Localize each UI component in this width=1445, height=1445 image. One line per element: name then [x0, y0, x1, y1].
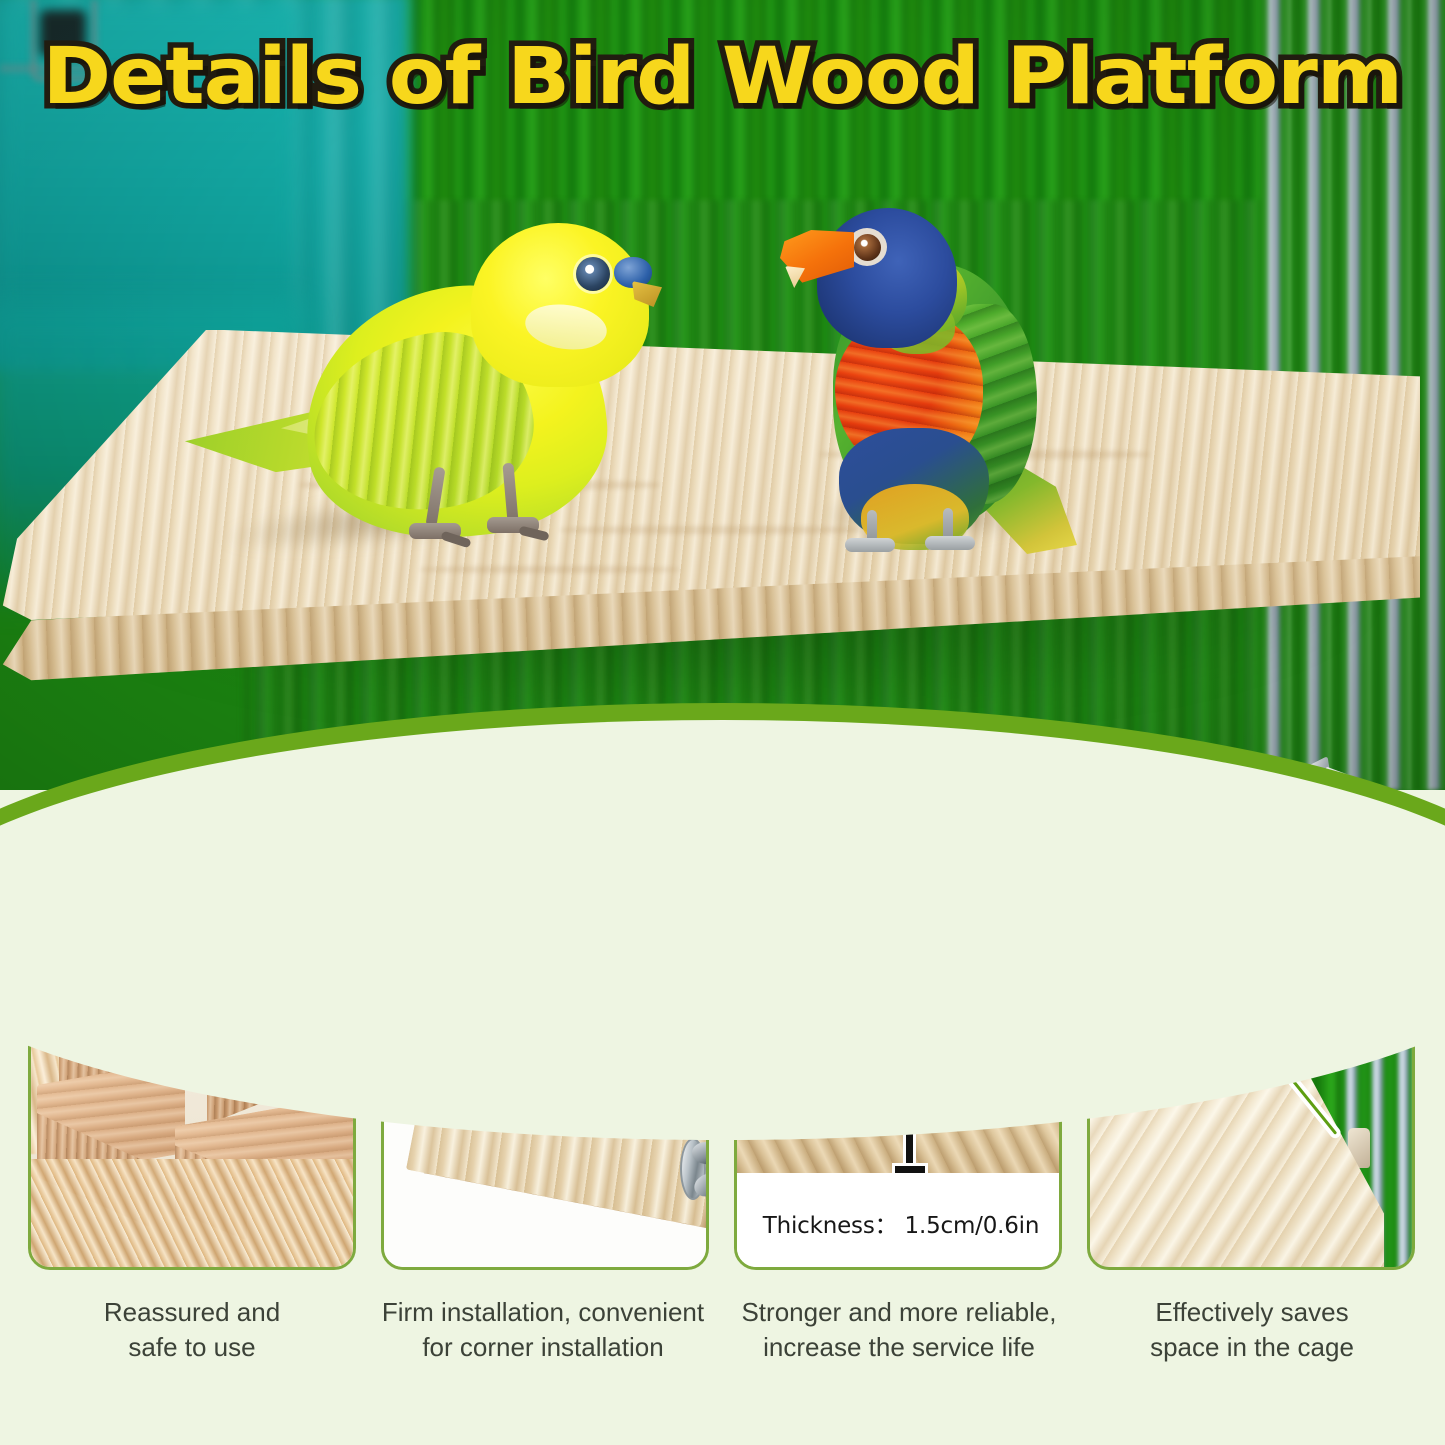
- rainbow-lorikeet-bird: [775, 192, 1065, 557]
- lorikeet-eye: [854, 234, 881, 261]
- budgie-claw-right: [518, 526, 549, 542]
- budgerigar-bird: [185, 195, 655, 565]
- caption-fixing-screws: Firm installation, convenient for corner…: [363, 1295, 723, 1365]
- lorikeet-foot-left: [845, 538, 895, 552]
- caption-pine-material: Reassured and safe to use: [12, 1295, 372, 1365]
- caption-corner-mountable: Effectively saves space in the cage: [1072, 1295, 1432, 1365]
- page-title: Details of Bird Wood Platform: [43, 38, 1402, 118]
- lorikeet-head: [817, 208, 957, 348]
- wood-shavings-bottom: [31, 1159, 356, 1267]
- caption-thickened-material: Stronger and more reliable, increase the…: [719, 1295, 1079, 1365]
- curved-divider: [0, 560, 1445, 980]
- infographic-page: Details of Bird Wood Platform: [0, 0, 1445, 1445]
- thickness-label: Thickness： 1.5cm/0.6in: [737, 1173, 1062, 1270]
- divider-arc: [0, 720, 1445, 1140]
- hero-title-wrapper: Details of Bird Wood Platform: [0, 38, 1445, 118]
- budgie-eye: [576, 257, 610, 291]
- lorikeet-foot-right: [925, 536, 975, 550]
